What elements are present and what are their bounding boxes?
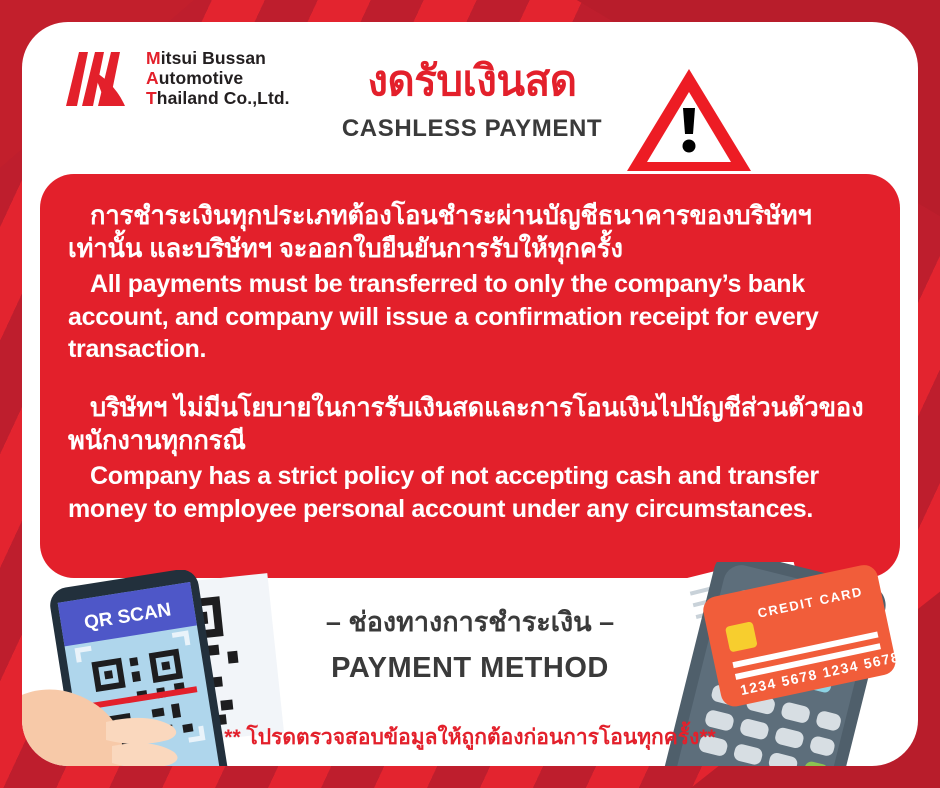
title-thai: งดรับเงินสด xyxy=(322,60,622,102)
notice-block2-english: Company has a strict policy of not accep… xyxy=(68,460,872,525)
company-logo: Mitsui Bussan Automotive Thailand Co.,Lt… xyxy=(62,48,290,110)
logo-line-2: Automotive xyxy=(146,69,290,89)
payment-method-block: – ช่องทางการชำระเงิน – PAYMENT METHOD **… xyxy=(22,600,918,754)
payment-method-thai: – ช่องทางการชำระเงิน – xyxy=(22,600,918,643)
payment-method-english: PAYMENT METHOD xyxy=(22,652,918,685)
header: Mitsui Bussan Automotive Thailand Co.,Lt… xyxy=(22,22,918,172)
notice-spacer xyxy=(68,366,872,392)
white-content-card: Mitsui Bussan Automotive Thailand Co.,Lt… xyxy=(22,22,918,766)
notice-block1-thai: การชำระเงินทุกประเภทต้องโอนชำระผ่านบัญชี… xyxy=(68,200,872,266)
title-english: CASHLESS PAYMENT xyxy=(322,115,622,143)
logo-line-1: Mitsui Bussan xyxy=(146,49,290,69)
header-title-block: งดรับเงินสด CASHLESS PAYMENT xyxy=(322,60,622,143)
warning-triangle-icon xyxy=(625,66,753,174)
poster-root: Mitsui Bussan Automotive Thailand Co.,Lt… xyxy=(0,0,940,788)
notice-block1-english: All payments must be transferred to only… xyxy=(68,268,872,366)
payment-method-note: ** โปรดตรวจสอบข้อมูลให้ถูกต้องก่อนการโอน… xyxy=(22,721,918,754)
mbat-logo-mark-icon xyxy=(62,48,134,110)
notice-block2-thai: บริษัทฯ ไม่มีนโยบายในการรับเงินสดและการโ… xyxy=(68,392,872,458)
logo-line-3: Thailand Co.,Ltd. xyxy=(146,89,290,109)
company-logo-text: Mitsui Bussan Automotive Thailand Co.,Lt… xyxy=(146,49,290,109)
notice-panel: การชำระเงินทุกประเภทต้องโอนชำระผ่านบัญชี… xyxy=(40,174,900,578)
